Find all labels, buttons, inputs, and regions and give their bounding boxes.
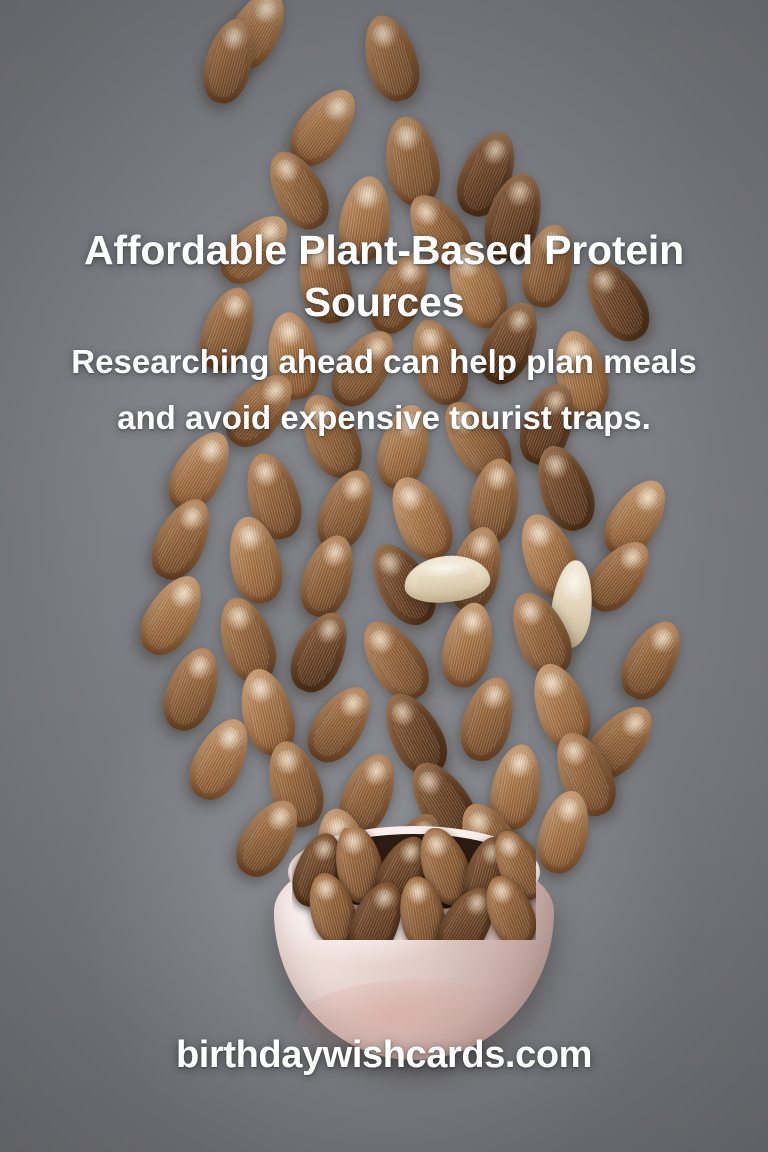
text-overlay: Affordable Plant-Based Protein Sources R…: [0, 0, 768, 1152]
page-title: Affordable Plant-Based Protein Sources: [0, 224, 768, 329]
site-attribution: birthdaywishcards.com: [0, 1034, 768, 1077]
page-subtitle: Researching ahead can help plan meals an…: [0, 334, 768, 446]
pin-graphic: Affordable Plant-Based Protein Sources R…: [0, 0, 768, 1152]
